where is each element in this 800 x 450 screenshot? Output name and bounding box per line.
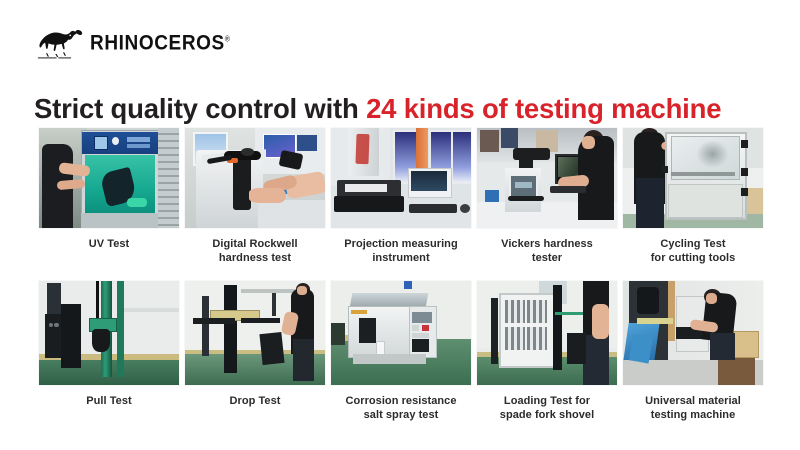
gallery-item-caption: Cycling Testfor cutting tools — [623, 237, 763, 265]
gallery-item-loading-test-for-spade-fork-shovel[interactable]: Loading Test forspade fork shovel — [474, 281, 620, 422]
gallery-item-caption: Drop Test — [185, 394, 325, 408]
gallery-item-caption: Corrosion resistancesalt spray test — [331, 394, 471, 422]
gallery-row: Pull Test Drop Test Corrosion — [36, 281, 766, 422]
gallery-item-caption: Projection measuringinstrument — [331, 237, 471, 265]
photo-projection-measuring-instrument — [331, 128, 471, 228]
brand-name: RHINOCEROS® — [90, 32, 231, 53]
page-title-accent: 24 kinds of testing machine — [366, 93, 721, 124]
rhinoceros-icon — [34, 26, 86, 60]
photo-digital-rockwell-hardness-tester — [185, 128, 325, 228]
gallery-item-caption: UV Test — [39, 237, 179, 251]
testing-machine-gallery: UV Test Digital Rockwellhardness test P — [36, 128, 766, 422]
gallery-row: UV Test Digital Rockwellhardness test P — [36, 128, 766, 265]
gallery-item-uv-test[interactable]: UV Test — [36, 128, 182, 265]
gallery-item-caption: Digital Rockwellhardness test — [185, 237, 325, 265]
photo-vickers-hardness-tester — [477, 128, 617, 228]
gallery-item-pull-test[interactable]: Pull Test — [36, 281, 182, 422]
gallery-item-universal-material-testing-machine[interactable]: Universal materialtesting machine — [620, 281, 766, 422]
gallery-item-caption: Pull Test — [39, 394, 179, 408]
gallery-item-cycling-test-for-cutting-tools[interactable]: Cycling Testfor cutting tools — [620, 128, 766, 265]
gallery-item-digital-rockwell-hardness-test[interactable]: Digital Rockwellhardness test — [182, 128, 328, 265]
photo-drop-test-rig — [185, 281, 325, 385]
photo-uv-test-chamber — [39, 128, 179, 228]
photo-pull-test-rig — [39, 281, 179, 385]
gallery-item-projection-measuring-instrument[interactable]: Projection measuringinstrument — [328, 128, 474, 265]
trademark-symbol: ® — [225, 35, 231, 43]
gallery-item-drop-test[interactable]: Drop Test — [182, 281, 328, 422]
photo-universal-material-testing-machine — [623, 281, 763, 385]
gallery-item-corrosion-resistance-salt-spray-test[interactable]: Corrosion resistancesalt spray test — [328, 281, 474, 422]
brand-logo: RHINOCEROS® — [34, 25, 214, 61]
gallery-item-caption: Universal materialtesting machine — [623, 394, 763, 422]
page-title: Strict quality control with 24 kinds of … — [34, 92, 721, 126]
photo-salt-spray-chamber — [331, 281, 471, 385]
gallery-item-caption: Loading Test forspade fork shovel — [477, 394, 617, 422]
page-header: RHINOCEROS® Strict quality control with … — [0, 0, 800, 118]
gallery-item-vickers-hardness-tester[interactable]: Vickers hardnesstester — [474, 128, 620, 265]
photo-loading-test-rack — [477, 281, 617, 385]
photo-cycling-test-machine — [623, 128, 763, 228]
page-title-lead: Strict quality control with — [34, 93, 366, 124]
gallery-item-caption: Vickers hardnesstester — [477, 237, 617, 265]
